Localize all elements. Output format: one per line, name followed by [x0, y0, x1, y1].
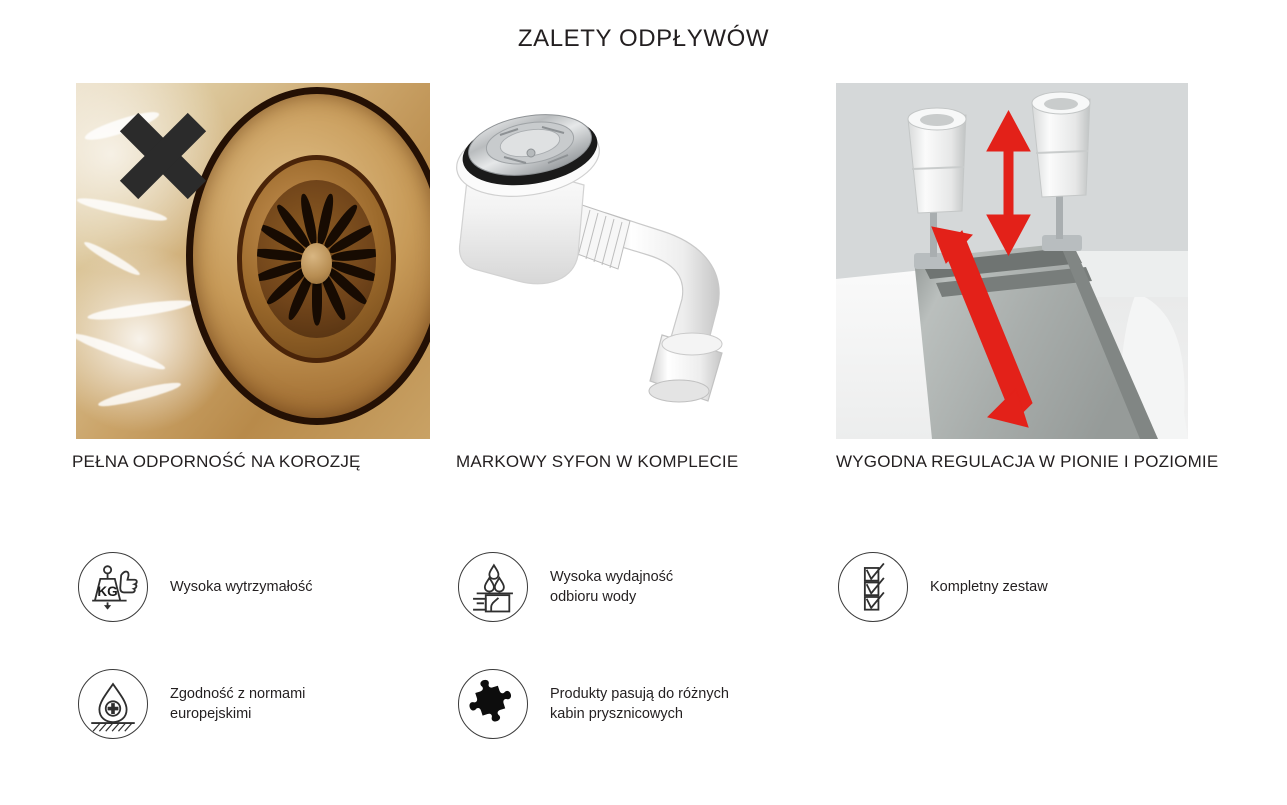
drain-middle-ring — [237, 155, 396, 362]
rust-texture — [76, 83, 430, 439]
page-title: ZALETY ODPŁYWÓW — [0, 25, 1287, 53]
siphon-svg — [456, 83, 810, 439]
siphon-illustration — [456, 83, 810, 439]
feature-item-standards: Zgodność z normami europejskimi — [78, 666, 305, 742]
drain-strainer — [257, 180, 376, 338]
drain-legs-scene — [836, 83, 1188, 439]
caption-adjustable: WYGODNA REGULACJA W PIONIE I POZIOMIE — [836, 452, 1218, 472]
highlight-card-corrosion — [76, 83, 430, 439]
adjustable-drain-legs-photo — [836, 83, 1188, 439]
feature-item-compatibility: Produkty pasują do różnych kabin pryszni… — [458, 666, 729, 742]
feature-label-standards: Zgodność z normami europejskimi — [170, 684, 305, 724]
highlight-card-siphon — [456, 83, 810, 439]
caption-corrosion: PEŁNA ODPORNOŚĆ NA KOROZJĘ — [72, 452, 361, 472]
feature-label-strength: Wysoka wytrzymałość — [170, 577, 312, 597]
highlight-photo-row — [0, 83, 1287, 439]
feature-label-capacity: Wysoka wydajność odbioru wody — [550, 567, 673, 607]
drain-water-drops-icon — [458, 552, 528, 622]
feature-item-capacity: Wysoka wydajność odbioru wody — [458, 549, 673, 625]
x-cross-icon — [115, 108, 211, 204]
feature-label-complete-set: Kompletny zestaw — [930, 577, 1048, 597]
feature-item-strength: KG Wysoka wytrzymałość — [78, 549, 312, 625]
highlight-card-adjustable — [836, 83, 1188, 439]
adjustable-leg-right — [1032, 92, 1090, 197]
feature-grid: KG Wysoka wytrzymałość — [0, 545, 1287, 775]
kg-weight-thumbs-up-icon: KG — [78, 552, 148, 622]
corroded-sink-drain-photo — [76, 83, 430, 439]
white-siphon-photo — [456, 83, 810, 439]
water-drop-plus-icon — [78, 669, 148, 739]
caption-siphon: MARKOWY SYFON W KOMPLECIE — [456, 452, 738, 472]
checklist-boxes-icon — [838, 552, 908, 622]
feature-item-complete-set: Kompletny zestaw — [838, 549, 1048, 625]
feature-label-compatibility: Produkty pasują do różnych kabin pryszni… — [550, 684, 729, 724]
puzzle-piece-icon — [458, 669, 528, 739]
drain-legs-svg — [836, 83, 1188, 439]
kg-label: KG — [97, 584, 117, 599]
adjustable-leg-left — [908, 108, 966, 213]
drain-outer-ring — [186, 87, 430, 425]
